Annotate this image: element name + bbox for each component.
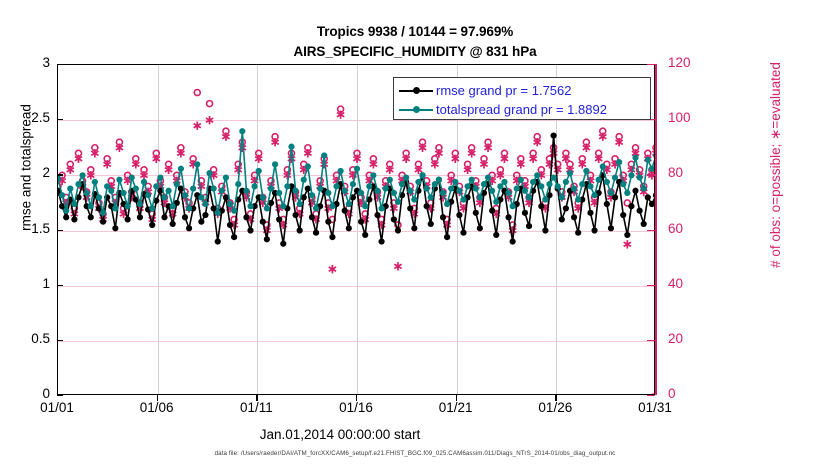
x-axis-tick-label: 01/16 [321,400,391,415]
y-axis-left-tick [57,64,63,65]
y-axis-right-tick [647,340,655,341]
y-axis-right-tick-label: 80 [668,165,708,180]
x-axis-tick-label: 01/06 [122,400,192,415]
chart-root: Tropics 9938 / 10144 = 97.969% AIRS_SPEC… [0,0,830,470]
y-axis-right-tick-label: 100 [668,110,708,125]
legend-label-rmse: rmse grand pr = 1.7562 [436,83,572,98]
obs-marker-zero [652,392,654,394]
data-file-footer: data file: /Users/raeder/DAI/ATM_forcXX/… [0,450,830,457]
x-axis-tick [555,395,556,401]
y-axis-right-tick [647,64,655,65]
x-axis-title: Jan.01,2014 00:00:00 start [0,427,680,442]
x-axis-tick-label: 01/26 [520,400,590,415]
x-axis-tick-label: 01/21 [421,400,491,415]
x-axis-tick [256,395,257,401]
legend-item-rmse[interactable]: rmse grand pr = 1.7562 [399,81,645,100]
y-axis-left-tick [57,174,63,175]
y-axis-left-tick-label: 0 [6,386,50,401]
line-series-totalspread [58,128,654,216]
y-axis-right-tick [647,395,655,396]
y-axis-right-tick-label: 60 [668,221,708,236]
y-axis-right-title: # of obs: o=possible; ∗=evaluated [768,0,784,330]
y-axis-left-tick-label: 0.5 [6,331,50,346]
x-axis-tick [157,395,158,401]
legend-marker-rmse-icon [399,84,433,98]
y-axis-right-line [655,64,657,395]
x-axis-tick-label: 01/11 [221,400,291,415]
y-axis-right-tick-label: 120 [668,55,708,70]
x-axis-tick [456,395,457,401]
y-axis-right-tick-label: 0 [668,386,708,401]
y-axis-right-tick [647,230,655,231]
legend-marker-totalspread-icon [399,103,433,117]
y-axis-left-title: rmse and totalspread [19,58,34,278]
y-axis-right-tick-label: 20 [668,331,708,346]
legend-label-totalspread: totalspread grand pr = 1.8892 [436,102,607,117]
y-axis-left-tick [57,119,63,120]
y-axis-right-tick-label: 40 [668,276,708,291]
x-axis-tick-label: 01/01 [22,400,92,415]
y-axis-left-tick [57,395,63,396]
y-axis-left-tick [57,340,63,341]
x-axis-tick-label: 01/31 [620,400,690,415]
x-axis-tick [356,395,357,401]
y-axis-left-tick-label: 1 [6,276,50,291]
y-axis-right-tick [647,174,655,175]
legend[interactable]: rmse grand pr = 1.7562 totalspread grand… [393,77,651,120]
y-axis-left-tick [57,230,63,231]
y-axis-left-tick [57,285,63,286]
legend-item-totalspread[interactable]: totalspread grand pr = 1.8892 [399,100,645,119]
chart-title-line-1: Tropics 9938 / 10144 = 97.969% [0,22,830,41]
y-axis-right-tick [647,285,655,286]
